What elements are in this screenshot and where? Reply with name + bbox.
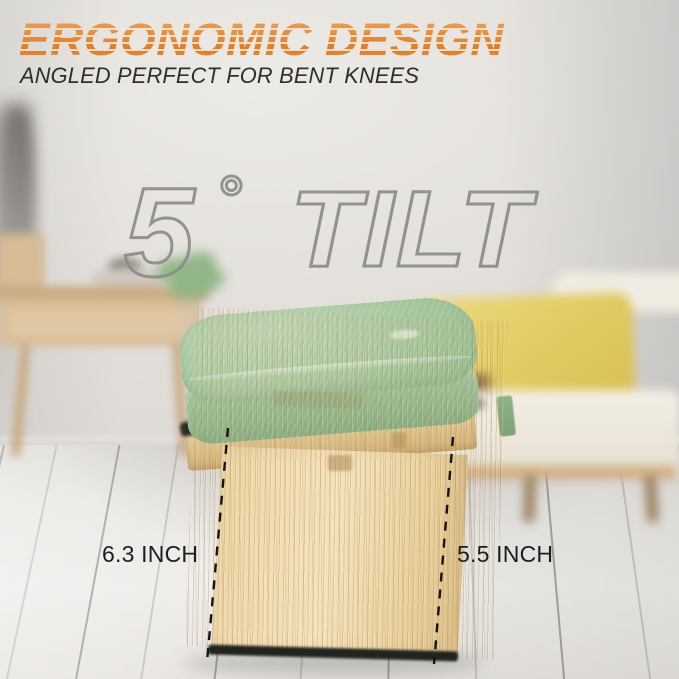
tilt-value-number: 5	[124, 160, 192, 305]
engraved-brand-mark	[274, 391, 364, 409]
measurement-label-left: 6.3 INCH	[102, 541, 198, 568]
tilt-word-label: TILT	[290, 166, 532, 291]
engraved-stamp-secondary	[392, 432, 406, 448]
product-feature-image: ERGONOMIC DESIGN ANGLED PERFECT FOR BENT…	[0, 0, 679, 679]
degree-symbol: °	[216, 163, 241, 234]
bamboo-footstool	[178, 300, 508, 660]
engraved-stamp	[328, 455, 352, 471]
tilt-overlay-group: 5 ° TILT	[0, 0, 679, 300]
measurement-label-right: 5.5 INCH	[457, 541, 553, 568]
bamboo-grain-texture-fine	[178, 300, 508, 660]
